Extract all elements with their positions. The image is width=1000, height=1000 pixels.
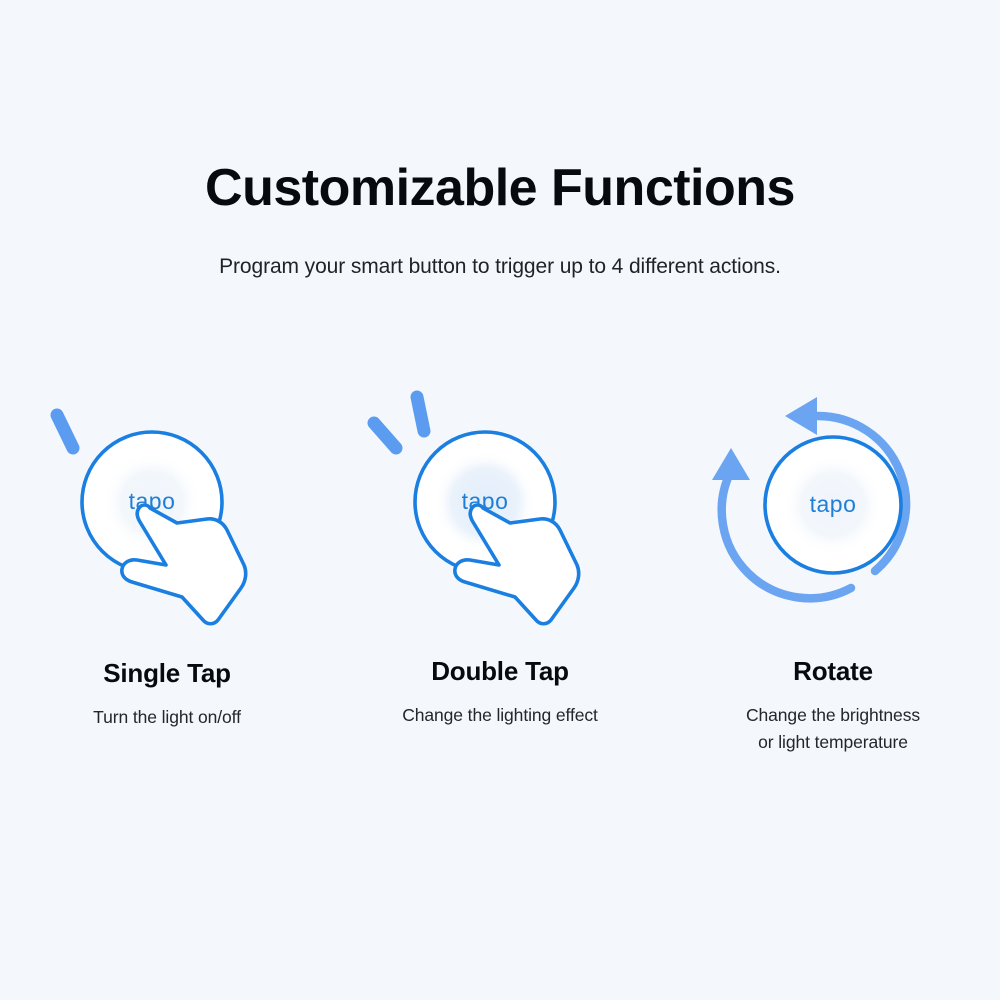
- feature-description: Change the brightness or light temperatu…: [746, 687, 920, 756]
- feature-single-tap: tapo Single Tap Turn the light on/off: [1, 375, 334, 731]
- feature-description-line: Change the brightness: [746, 705, 920, 725]
- feature-double-tap: tapo Double Tap Change the lighting effe…: [334, 375, 667, 729]
- feature-description: Turn the light on/off: [93, 689, 241, 731]
- promo-page: Customizable Functions Program your smar…: [0, 0, 1000, 1000]
- pointing-hand-icon: [122, 505, 246, 624]
- feature-title: Single Tap: [103, 650, 231, 689]
- feature-title: Rotate: [793, 650, 873, 687]
- header: Customizable Functions Program your smar…: [0, 160, 1000, 279]
- page-subtitle: Program your smart button to trigger up …: [0, 217, 1000, 279]
- tap-tick-icon: [374, 397, 424, 448]
- feature-rotate: tapo Rotate Change the brightness or lig…: [667, 375, 1000, 756]
- tap-tick-icon: [57, 415, 73, 448]
- double-tap-icon: tapo: [360, 375, 640, 650]
- tapo-button: tapo: [765, 437, 901, 573]
- feature-title: Double Tap: [431, 650, 569, 687]
- feature-list: tapo Single Tap Turn the light on/off: [0, 375, 1000, 756]
- pointing-hand-icon: [455, 505, 579, 624]
- feature-description: Change the lighting effect: [402, 687, 598, 729]
- rotate-icon: tapo: [693, 375, 973, 650]
- single-tap-icon: tapo: [27, 375, 307, 650]
- feature-description-line: or light temperature: [758, 732, 908, 752]
- tapo-logo-text: tapo: [810, 491, 857, 517]
- page-title: Customizable Functions: [0, 160, 1000, 217]
